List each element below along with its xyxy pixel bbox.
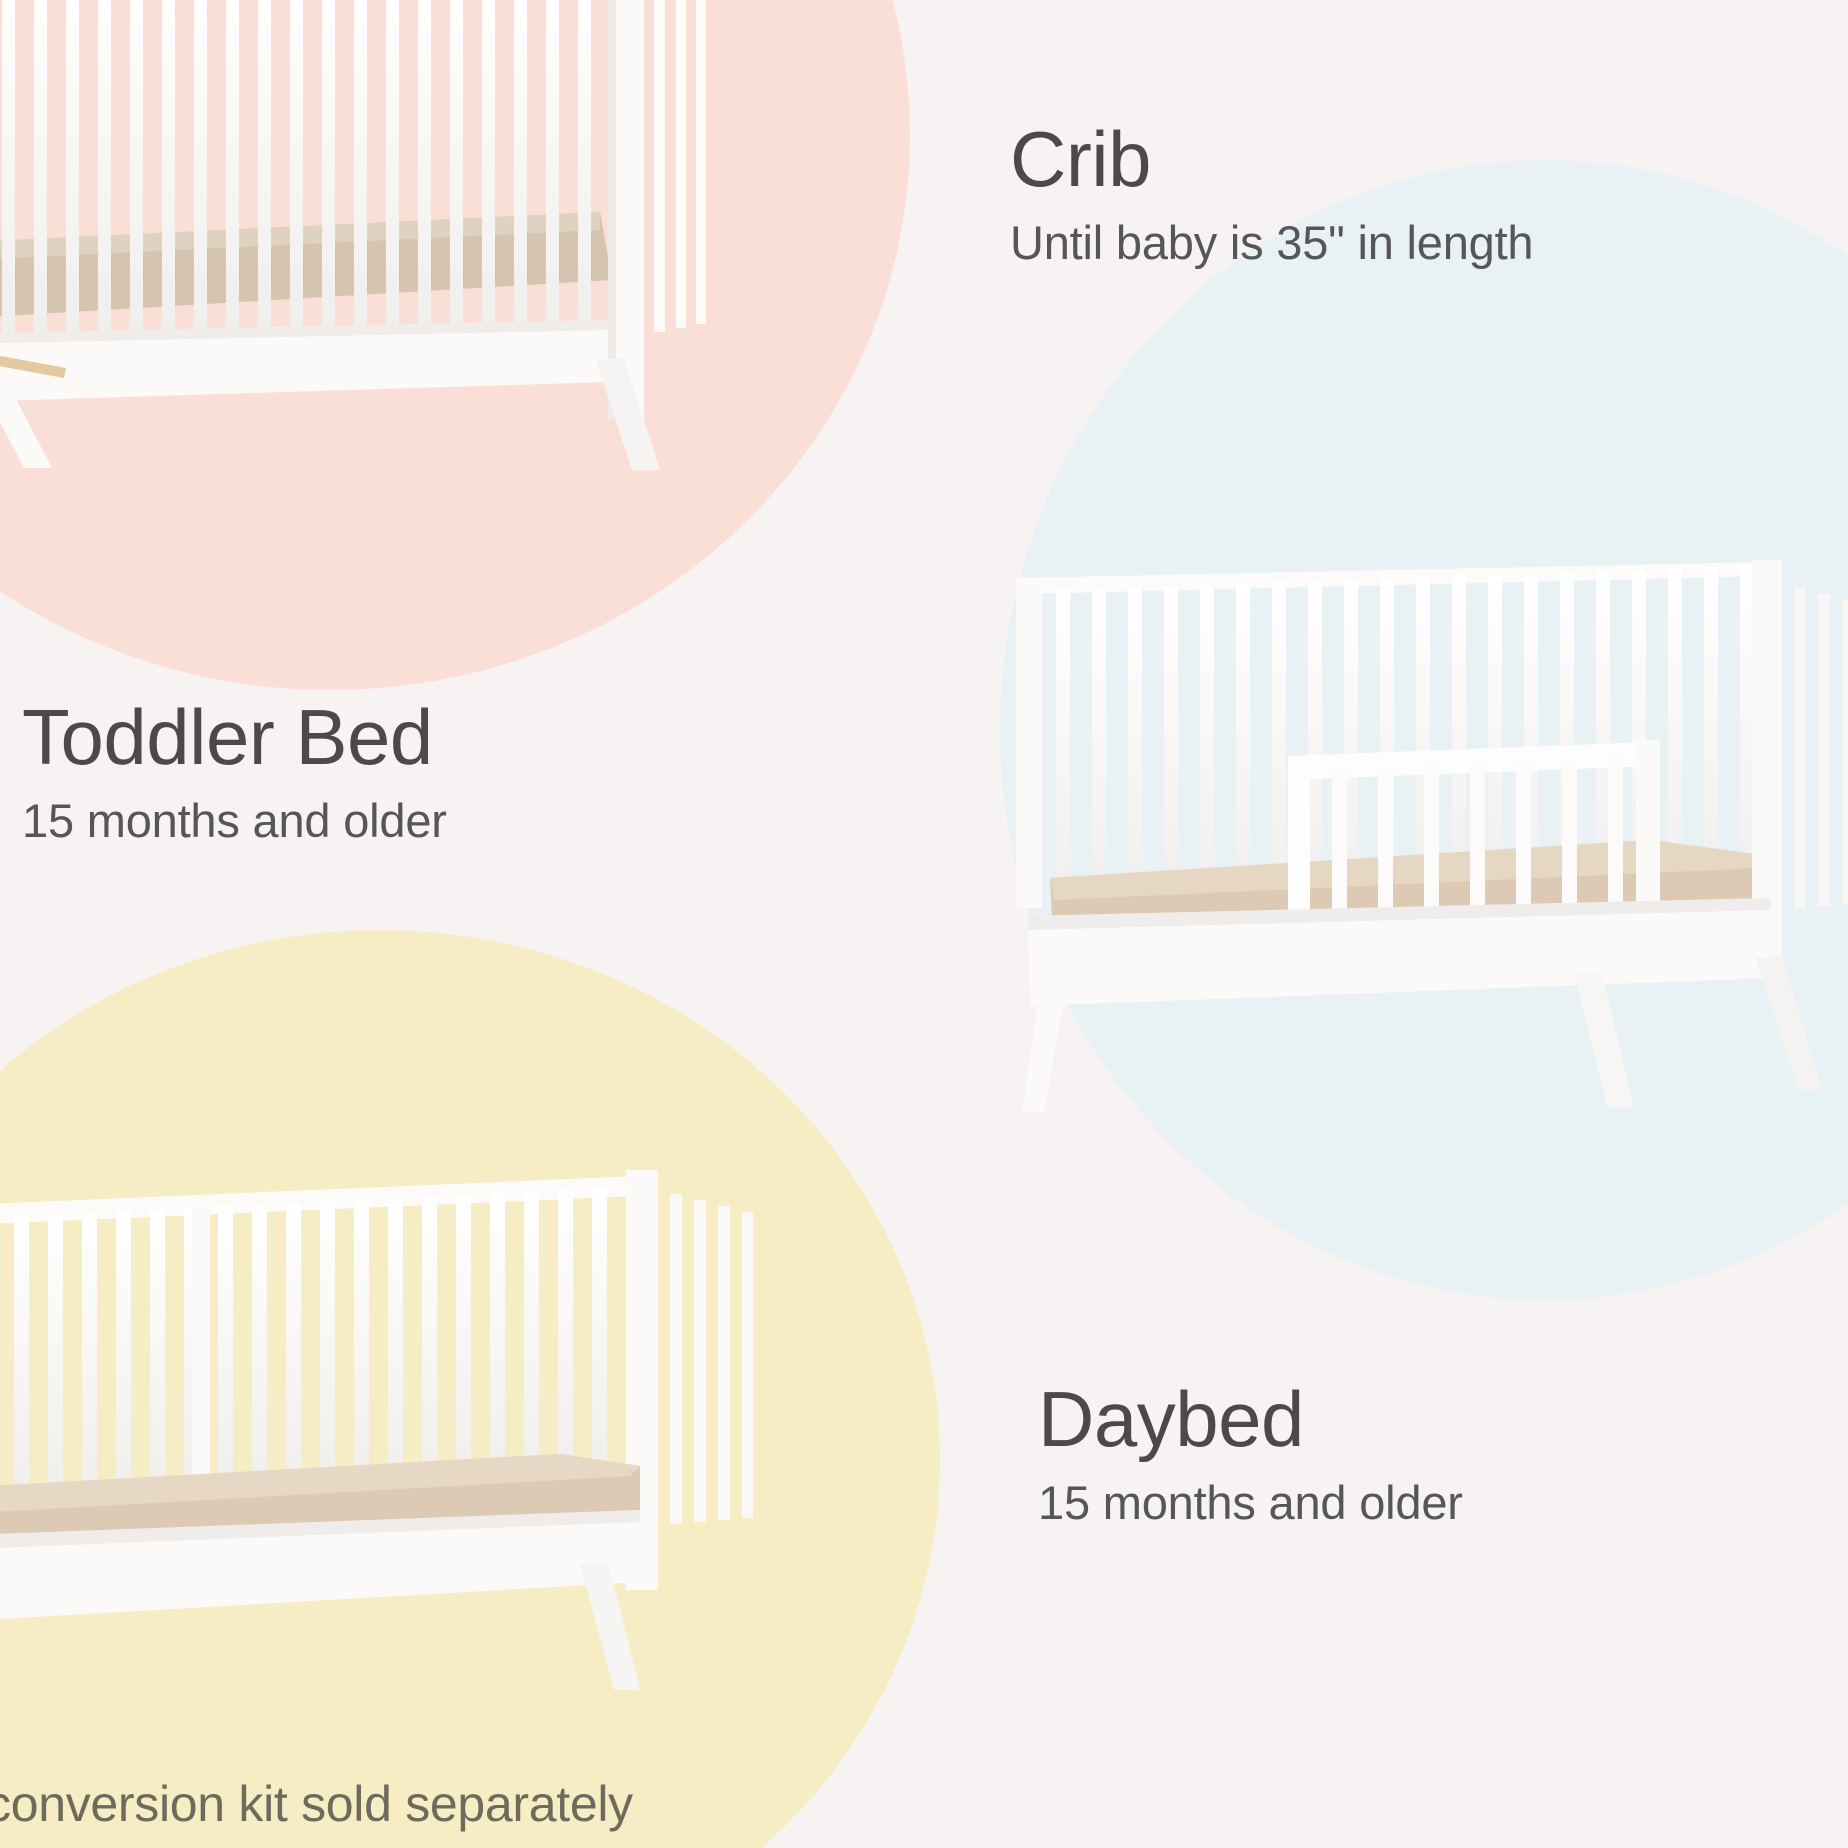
conversion-kit-disclaimer: conversion kit sold separately bbox=[0, 1775, 633, 1833]
infographic-canvas: Crib Until baby is 35" in length Toddler… bbox=[0, 0, 1848, 1848]
toddler-bed-subtitle: 15 months and older bbox=[22, 796, 447, 845]
daybed-subtitle: 15 months and older bbox=[1038, 1478, 1463, 1527]
daybed-title: Daybed bbox=[1038, 1382, 1463, 1456]
toddler-bed-photo bbox=[1010, 560, 1848, 1120]
stage-text-crib: Crib Until baby is 35" in length bbox=[1010, 122, 1533, 267]
daybed-photo bbox=[0, 1170, 760, 1700]
toddler-bed-title: Toddler Bed bbox=[22, 700, 447, 774]
crib-title: Crib bbox=[1010, 122, 1533, 196]
stage-text-toddler-bed: Toddler Bed 15 months and older bbox=[22, 700, 447, 845]
crib-photo bbox=[0, 0, 720, 470]
crib-subtitle: Until baby is 35" in length bbox=[1010, 218, 1533, 267]
stage-text-daybed: Daybed 15 months and older bbox=[1038, 1382, 1463, 1527]
